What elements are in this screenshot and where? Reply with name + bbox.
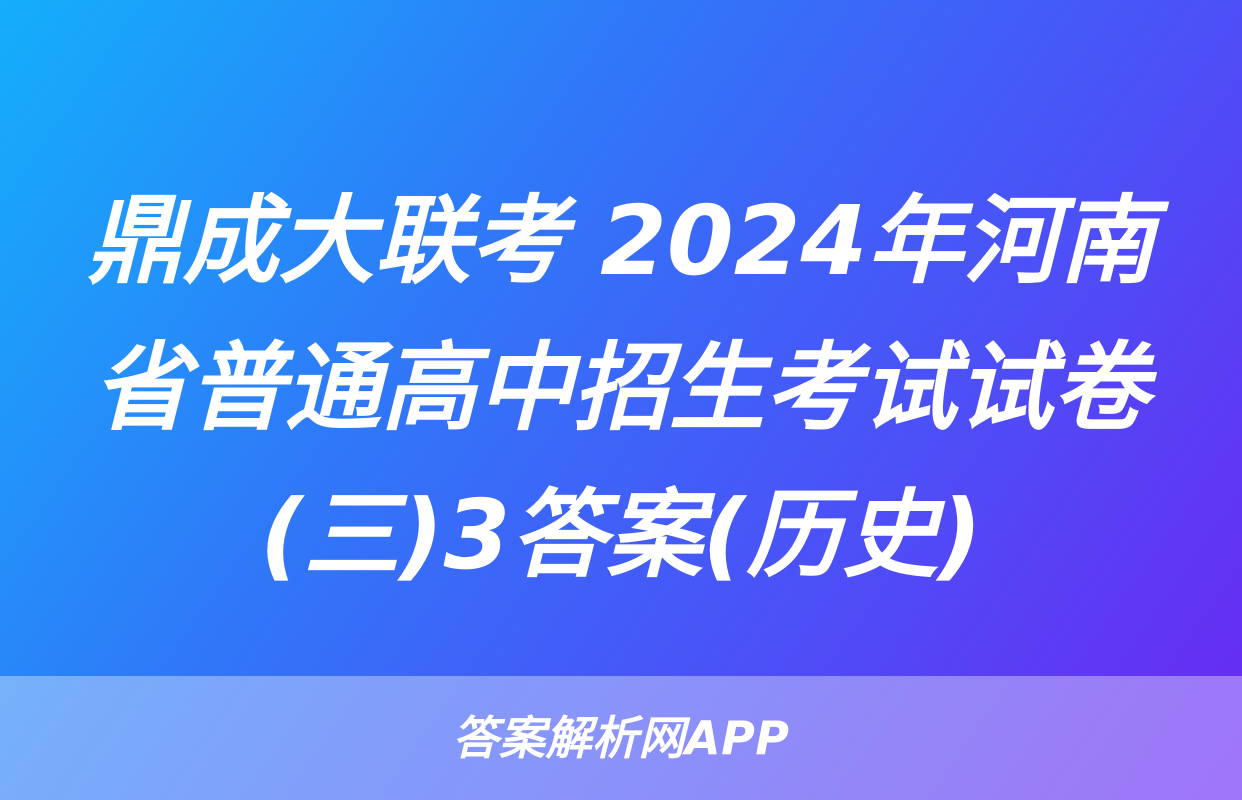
title-line-1: 鼎成大联考 2024年河南 [56, 168, 1186, 315]
poster-canvas: 鼎成大联考 2024年河南 省普通高中招生考试试卷 (三)3答案(历史) 答案解… [0, 0, 1242, 800]
footer-band: 答案解析网APP [0, 676, 1242, 800]
title-line-3: (三)3答案(历史) [56, 462, 1186, 609]
watermark-brand-label: 答案解析网APP [452, 715, 789, 761]
page-title: 鼎成大联考 2024年河南 省普通高中招生考试试卷 (三)3答案(历史) [0, 168, 1242, 609]
title-line-2: 省普通高中招生考试试卷 [56, 315, 1186, 462]
